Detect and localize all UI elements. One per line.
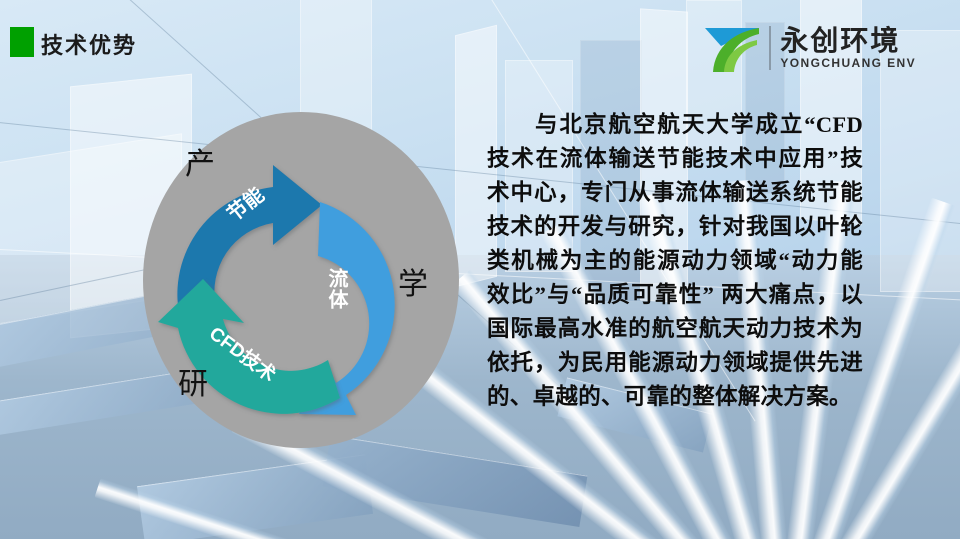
company-logo: 永创环境 YONGCHUANG ENV <box>701 20 916 76</box>
logo-leaf-icon <box>701 20 763 76</box>
ring-label-yan: 研 <box>178 370 208 400</box>
ring-label-xue: 学 <box>398 270 428 300</box>
logo-chinese-name: 永创环境 <box>780 26 916 55</box>
page-title: 技术优势 <box>41 28 137 60</box>
ring-label-chan: 产 <box>185 150 215 180</box>
logo-english-name: YONGCHUANG ENV <box>780 56 916 70</box>
body-paragraph: 与北京航空航天大学成立“CFD技术在流体输送节能技术中应用”技术中心，专门从事流… <box>487 108 863 414</box>
segment-label-liuti: 流体 <box>325 267 348 310</box>
cycle-diagram: 节能 流体 CFD技术 产 学 研 <box>140 108 460 453</box>
header-accent-square <box>10 27 34 57</box>
slide-canvas: 技术优势 永创环境 YONGCHUANG ENV <box>0 0 960 539</box>
logo-divider <box>769 26 771 70</box>
logo-wordmark: 永创环境 YONGCHUANG ENV <box>780 26 916 70</box>
